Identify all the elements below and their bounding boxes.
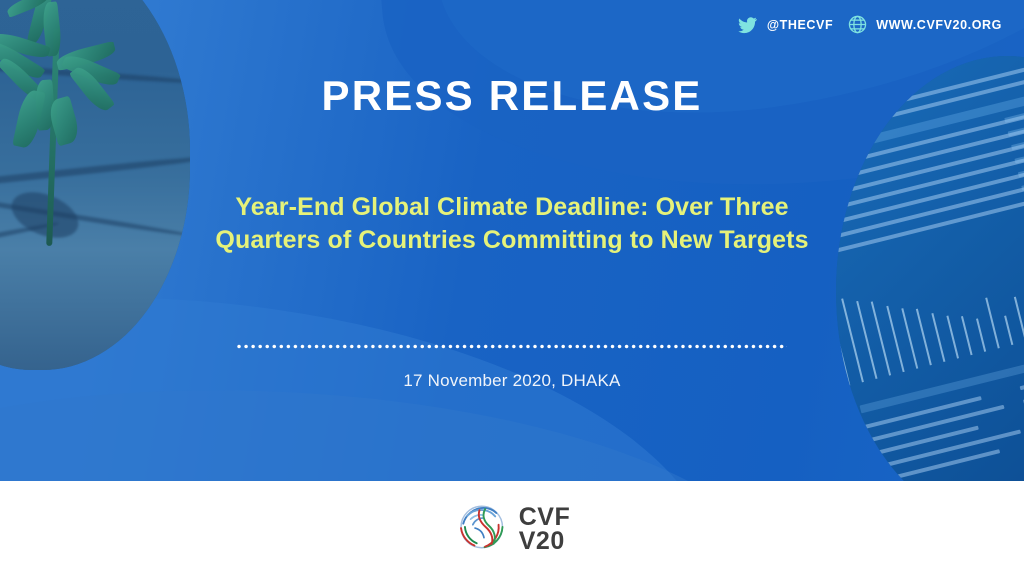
- seedling-plant: [0, 0, 148, 250]
- twitter-bird-icon: [736, 15, 759, 35]
- website-link[interactable]: WWW.CVFV20.ORG: [847, 14, 1002, 35]
- logo-line-v20: V20: [519, 530, 571, 554]
- dotted-divider: [237, 344, 787, 349]
- website-url-label: WWW.CVFV20.ORG: [876, 18, 1002, 32]
- social-links-row: @THECVF WWW.CVFV20.ORG: [736, 14, 1002, 35]
- cvf-v20-logo[interactable]: CVF V20: [454, 499, 571, 560]
- logo-line-cvf: CVF: [519, 506, 571, 530]
- footer: CVF V20: [0, 481, 1024, 576]
- dateline: 17 November 2020, DHAKA: [0, 371, 1024, 391]
- headline: Year-End Global Climate Deadline: Over T…: [196, 191, 828, 256]
- cvf-globe-logo-icon: [454, 499, 510, 560]
- seedling-photo: [0, 0, 190, 370]
- twitter-link[interactable]: @THECVF: [736, 15, 833, 35]
- page-title: PRESS RELEASE: [0, 72, 1024, 120]
- press-release-poster: @THECVF WWW.CVFV20.ORG: [0, 0, 1024, 576]
- globe-icon: [847, 14, 868, 35]
- logo-wordmark: CVF V20: [519, 506, 571, 553]
- blue-background-band: @THECVF WWW.CVFV20.ORG: [0, 0, 1024, 481]
- line-chart-graphic: [836, 205, 1024, 387]
- twitter-handle-label: @THECVF: [767, 18, 833, 32]
